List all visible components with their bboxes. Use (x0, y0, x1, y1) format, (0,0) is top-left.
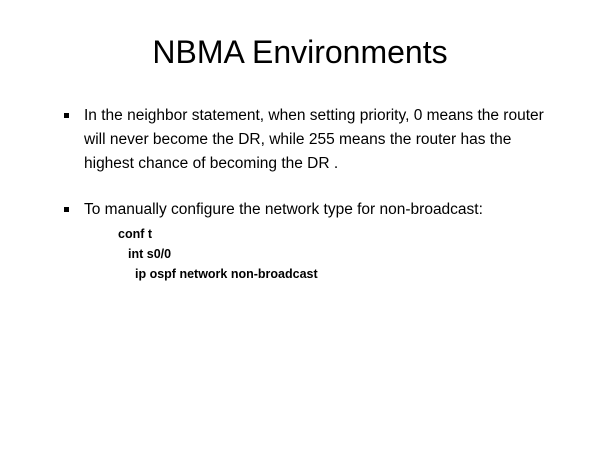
cli-command-line: conf t (60, 224, 560, 244)
bullet-item-1-label: In the neighbor statement, when setting … (84, 104, 560, 176)
bullet-spacer (60, 176, 560, 198)
page-title: NBMA Environments (0, 33, 600, 71)
cli-command-block: conf t int s0/0 ip ospf network non-broa… (60, 224, 560, 284)
slide-body: In the neighbor statement, when setting … (60, 104, 560, 284)
cli-command-line: ip ospf network non-broadcast (60, 264, 560, 284)
square-bullet-icon (64, 207, 69, 212)
cli-command-line: int s0/0 (60, 244, 560, 264)
bullet-item-1: In the neighbor statement, when setting … (60, 104, 560, 176)
slide-canvas: NBMA Environments In the neighbor statem… (0, 0, 600, 450)
bullet-item-2: To manually configure the network type f… (60, 198, 560, 222)
bullet-item-2-label: To manually configure the network type f… (84, 198, 560, 222)
square-bullet-icon (64, 113, 69, 118)
